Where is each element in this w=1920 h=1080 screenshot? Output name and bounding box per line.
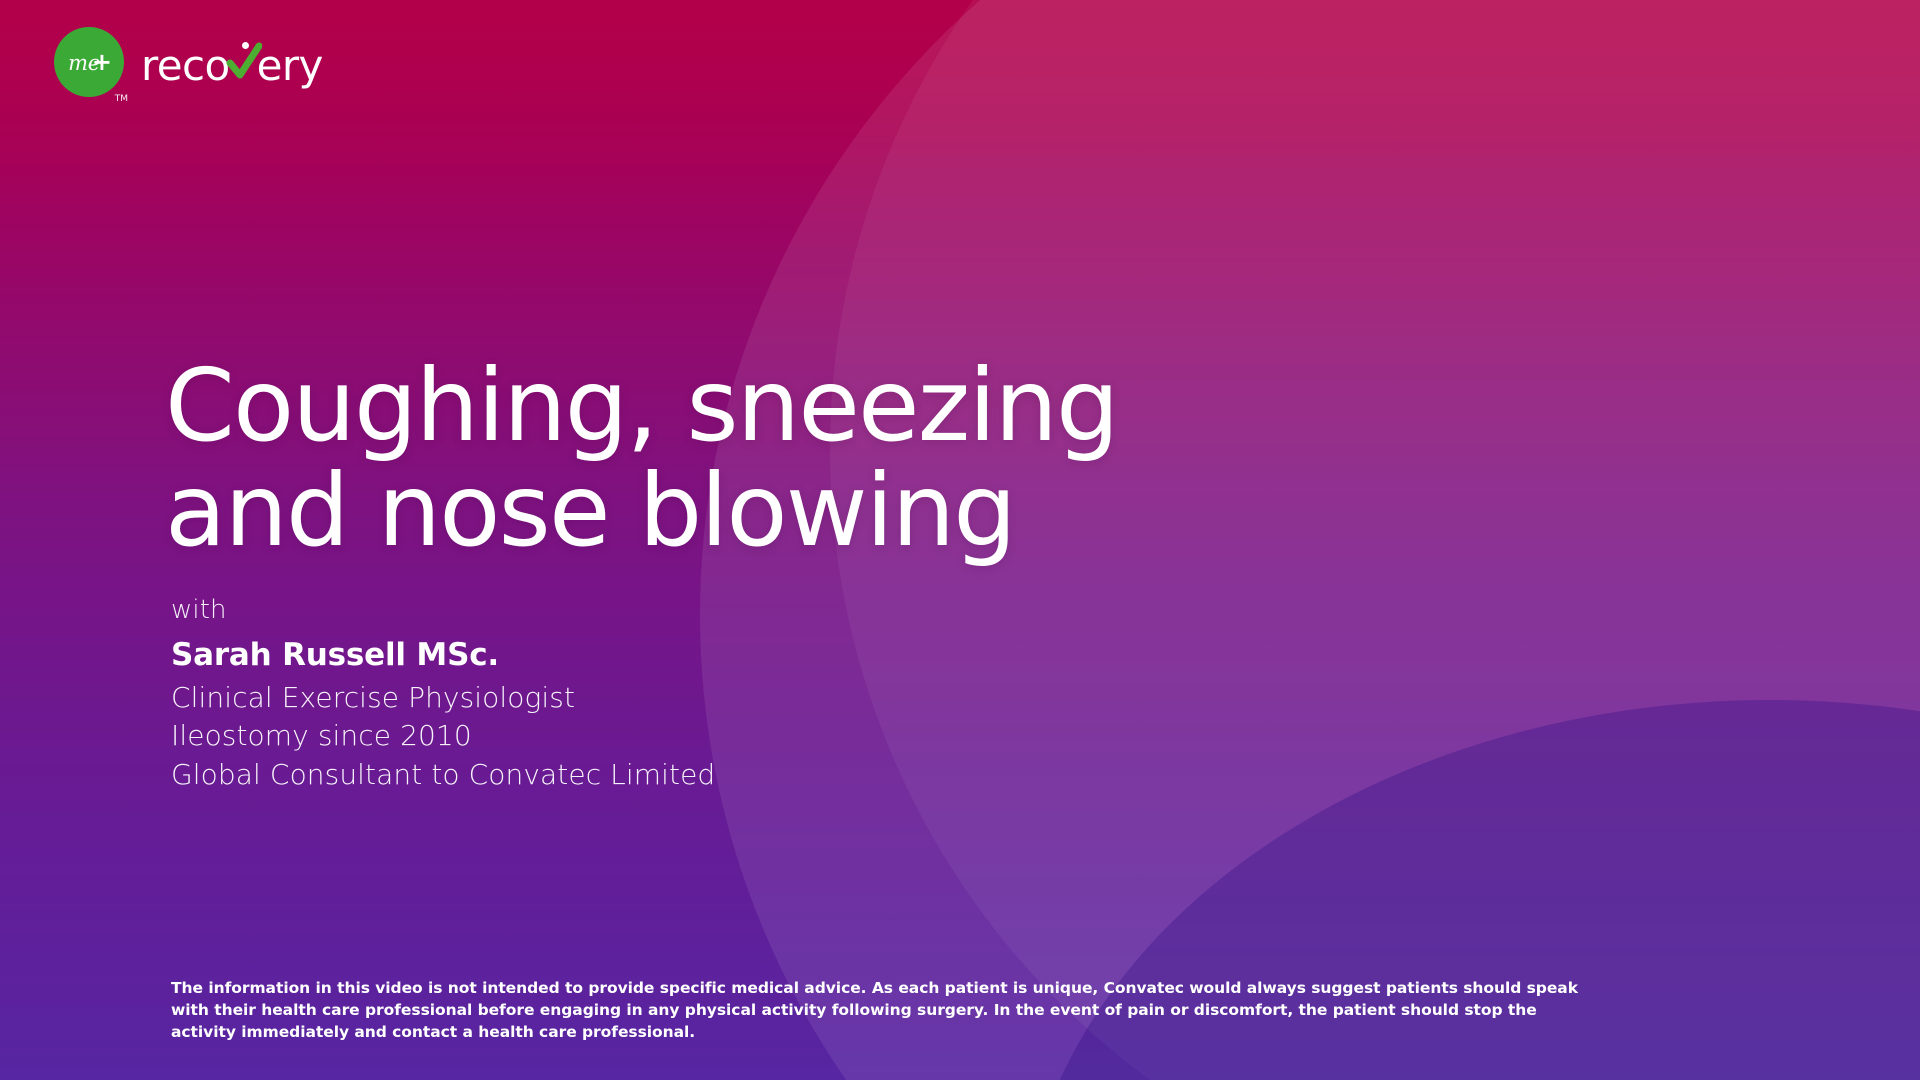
wordmark-suffix: ery — [257, 45, 323, 87]
medical-disclaimer: The information in this video is not int… — [171, 977, 1596, 1043]
logo-green-circle: me — [54, 27, 124, 97]
brand-logo: me + TM reco ery — [54, 27, 323, 97]
speaker-role-3: Global Consultant to Convatec Limited — [171, 756, 715, 794]
recovery-wordmark: reco ery — [141, 38, 323, 87]
wordmark-prefix: reco — [141, 45, 230, 87]
me-plus-logo-icon: me + TM — [54, 27, 124, 97]
speaker-role-2: Ileostomy since 2010 — [171, 717, 715, 755]
speaker-credits: with Sarah Russell MSc. Clinical Exercis… — [171, 592, 715, 794]
green-checkmark-icon — [229, 38, 258, 80]
trademark-icon: TM — [115, 95, 128, 104]
speaker-role-1: Clinical Exercise Physiologist — [171, 679, 715, 717]
slide-title-line-2: and nose blowing — [165, 458, 1118, 563]
slide-title-line-1: Coughing, sneezing — [165, 353, 1118, 458]
slide-title: Coughing, sneezing and nose blowing — [165, 353, 1118, 563]
plus-icon: + — [92, 50, 112, 74]
speaker-name: Sarah Russell MSc. — [171, 633, 715, 679]
presentation-slide: me + TM reco ery Coughing, sneezing and … — [0, 0, 1920, 1080]
with-label: with — [171, 592, 715, 629]
